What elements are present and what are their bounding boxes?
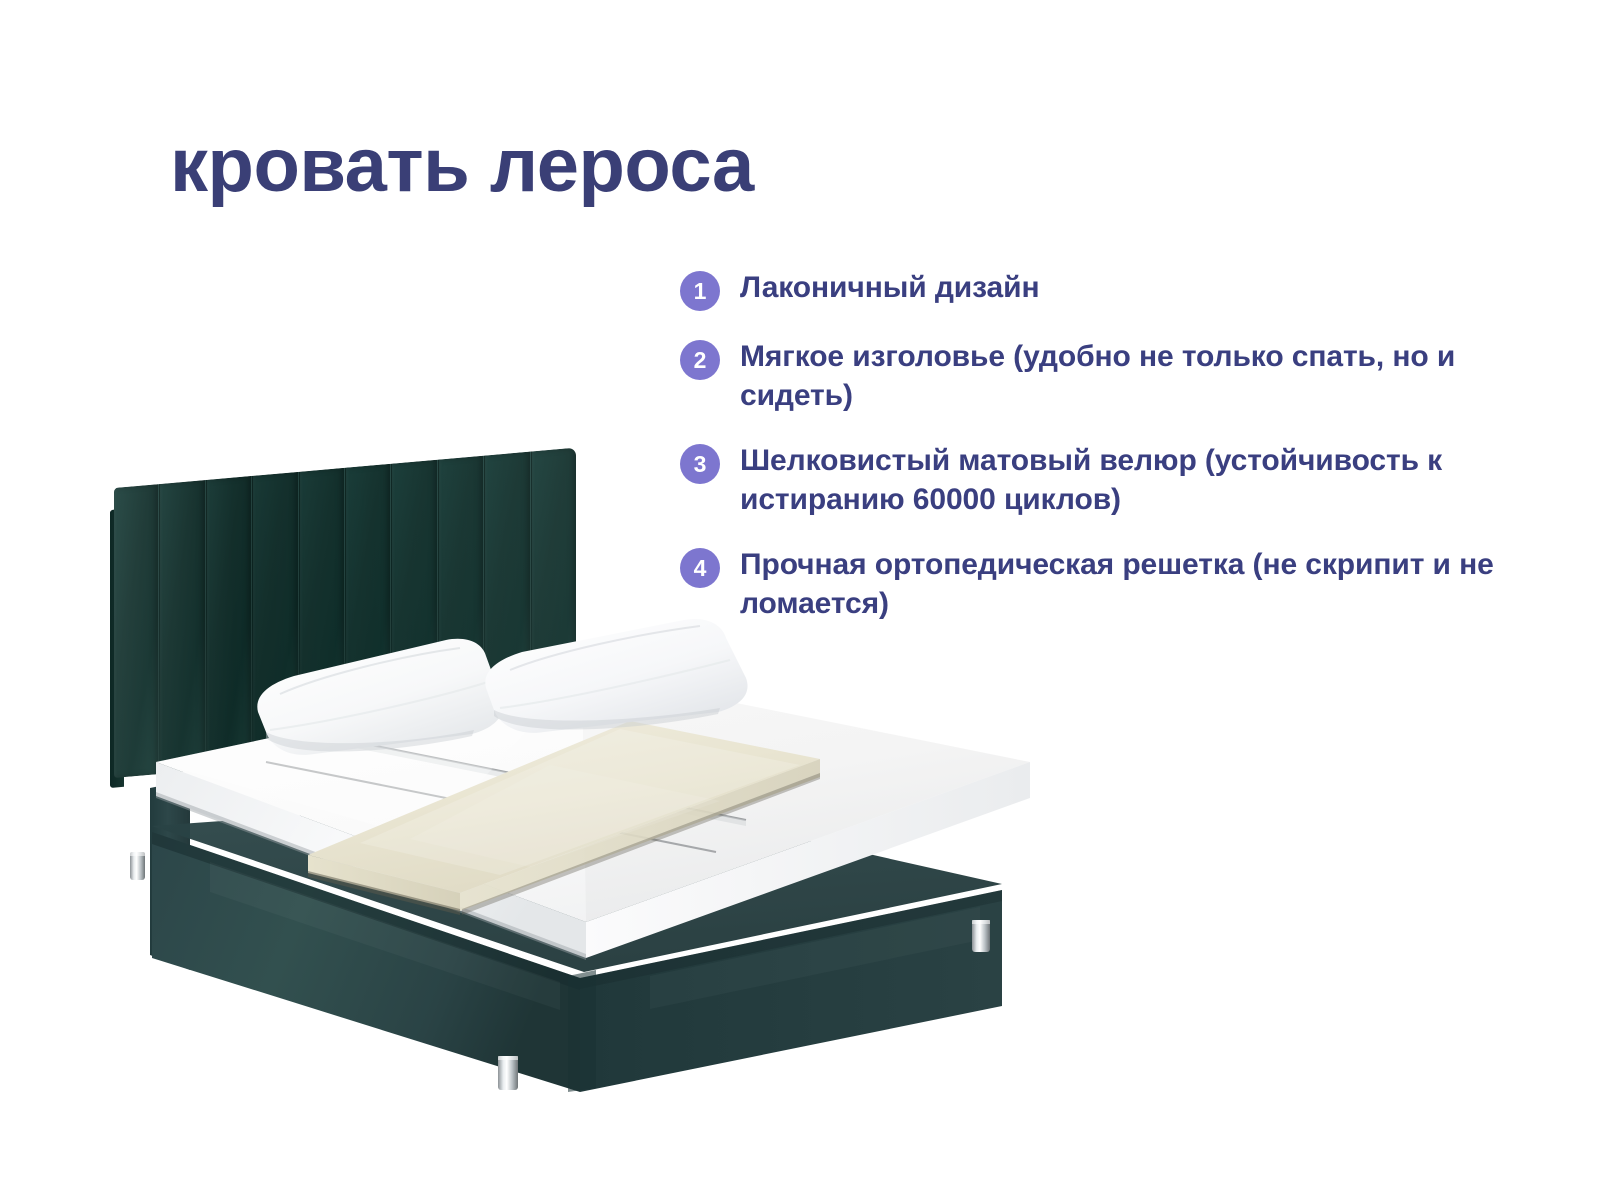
feature-text: Мягкое изголовье (удобно не только спать…: [740, 337, 1500, 415]
feature-number-badge: 4: [680, 548, 720, 588]
bed-leg: [972, 920, 990, 952]
feature-text: Лаконичный дизайн: [740, 268, 1039, 307]
bed-leg: [498, 1056, 518, 1090]
feature-item-3: 3 Шелковистый матовый велюр (устойчивост…: [680, 441, 1510, 519]
bed-leg: [130, 852, 145, 880]
feature-item-4: 4 Прочная ортопедическая решетка (не скр…: [680, 545, 1510, 623]
feature-number-badge: 2: [680, 340, 720, 380]
feature-item-2: 2 Мягкое изголовье (удобно не только спа…: [680, 337, 1510, 415]
feature-number-badge: 1: [680, 271, 720, 311]
feature-list: 1 Лаконичный дизайн 2 Мягкое изголовье (…: [680, 268, 1510, 649]
feature-text: Прочная ортопедическая решетка (не скрип…: [740, 545, 1500, 623]
page-title: кровать лероса: [170, 128, 754, 204]
promo-banner: кровать лероса: [0, 0, 1600, 1200]
feature-item-1: 1 Лаконичный дизайн: [680, 268, 1510, 311]
feature-text: Шелковистый матовый велюр (устойчивость …: [740, 441, 1500, 519]
feature-number-badge: 3: [680, 444, 720, 484]
